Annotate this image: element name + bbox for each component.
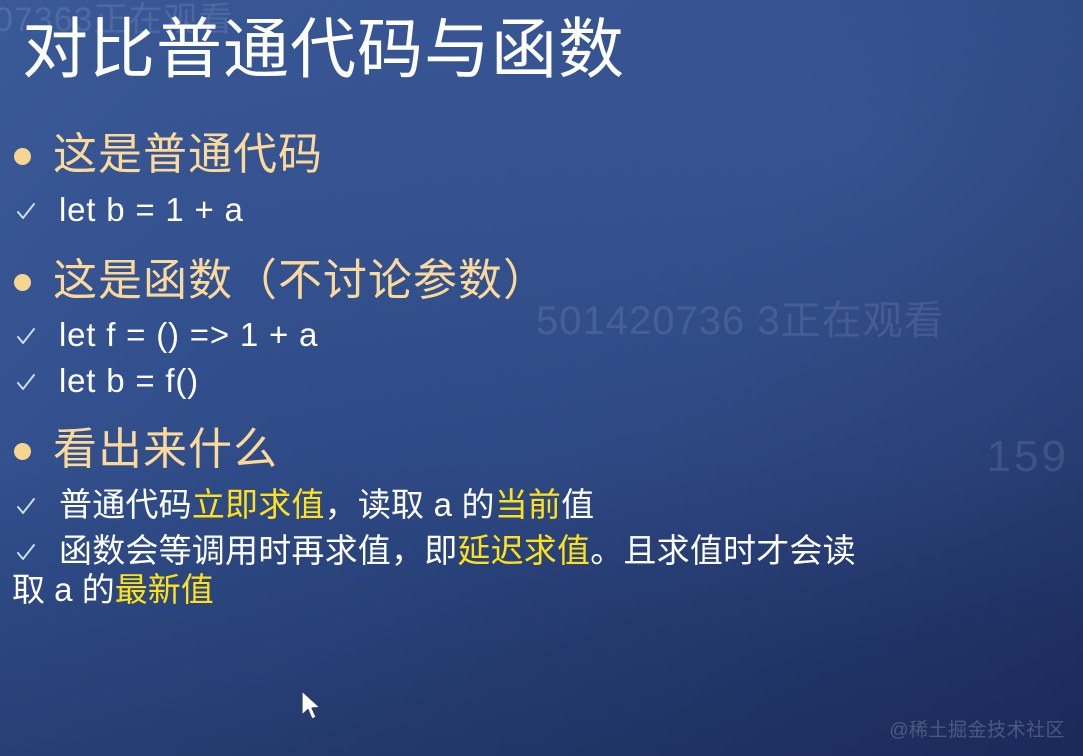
check-mark-icon	[17, 495, 35, 517]
list-item: 函数会等调用时再求值，即延迟求值。且求值时才会读	[0, 529, 1083, 573]
list-item-text: let b = f()	[59, 359, 199, 403]
list-item-text: 函数会等调用时再求值，即延迟求值。且求值时才会读	[59, 529, 856, 573]
list-item: let f = () => 1 + a	[0, 313, 1083, 357]
highlighted-text: 立即求值	[192, 486, 325, 523]
plain-text: 函数会等调用时再求值，即	[59, 532, 457, 569]
list-item: let b = f()	[0, 359, 1083, 403]
bullet-dot-icon	[14, 148, 31, 165]
check-mark-icon	[17, 371, 35, 393]
plain-text: 取 a 的	[12, 571, 115, 608]
presentation-slide: 07363正在观看 501420736 3正在观看 159 @稀土掘金技术社区 …	[0, 0, 1083, 756]
highlighted-text: 当前	[495, 486, 561, 523]
plain-text: 。且求值时才会读	[590, 532, 856, 569]
slide-title: 对比普通代码与函数	[22, 8, 625, 91]
check-mark-icon	[17, 325, 35, 347]
plain-text: 普通代码	[59, 486, 192, 523]
check-mark-icon	[17, 200, 35, 222]
check-mark-icon	[17, 541, 35, 563]
section-heading-3: 看出来什么	[53, 423, 278, 477]
highlighted-text: 最新值	[115, 571, 214, 608]
highlighted-text: 延迟求值	[457, 532, 590, 569]
list-item: let b = 1 + a	[0, 188, 1083, 232]
plain-text: 值	[561, 486, 594, 523]
section-block-2: 这是函数（不讨论参数） let f = () => 1 + a let b = …	[0, 254, 1083, 403]
list-item-text: let b = 1 + a	[59, 188, 244, 232]
section-heading-row-1: 这是普通代码	[0, 128, 1083, 182]
section-heading-row-2: 这是函数（不讨论参数）	[0, 254, 1083, 308]
section-heading-row-3: 看出来什么	[0, 423, 1083, 477]
bullet-dot-icon	[14, 274, 31, 291]
bullet-dot-icon	[14, 443, 31, 460]
section-heading-1: 这是普通代码	[53, 128, 323, 182]
section-heading-2: 这是函数（不讨论参数）	[53, 254, 548, 308]
watermark-brand: @稀土掘金技术社区	[889, 715, 1065, 742]
plain-text: ，读取 a 的	[325, 486, 495, 523]
list-item-text: 普通代码立即求值，读取 a 的当前值	[59, 483, 594, 527]
slide-body: 这是普通代码 let b = 1 + a 这是函数（不讨论参数）	[0, 128, 1083, 612]
list-item: 普通代码立即求值，读取 a 的当前值	[0, 483, 1083, 527]
section-block-3: 看出来什么 普通代码立即求值，读取 a 的当前值 函数会等调用时再求值，即延迟求…	[0, 423, 1083, 612]
mouse-cursor-icon	[300, 690, 324, 724]
list-item-wrapped-tail: 取 a 的最新值	[0, 568, 1083, 612]
section-block-1: 这是普通代码 let b = 1 + a	[0, 128, 1083, 232]
list-item-text: let f = () => 1 + a	[59, 313, 318, 357]
